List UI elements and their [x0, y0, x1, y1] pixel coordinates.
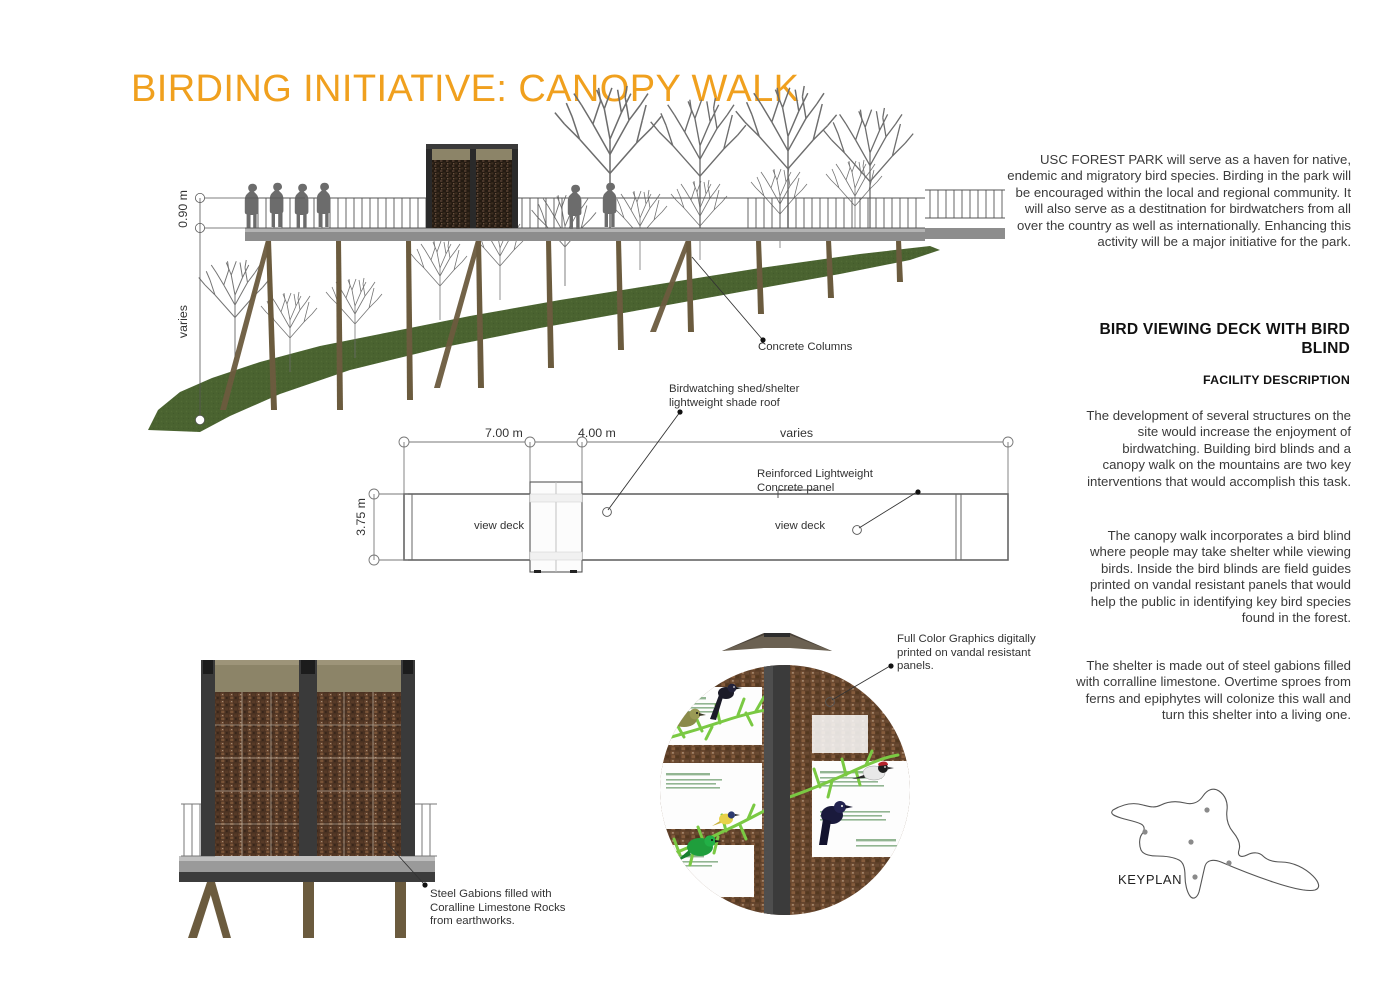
page-title: BIRDING INITIATIVE: CANOPY WALK: [131, 68, 799, 111]
facility-paragraph-1: The development of several structures on…: [1085, 408, 1351, 490]
facility-paragraph-2: The canopy walk incorporates a bird blin…: [1085, 528, 1351, 626]
intro-paragraph: USC FOREST PARK will serve as a haven fo…: [1006, 152, 1351, 250]
facility-paragraph-3: The shelter is made out of steel gabions…: [1065, 658, 1351, 724]
railing: [245, 190, 1005, 228]
facility-heading: BIRD VIEWING DECK WITH BIRD BLIND: [1050, 320, 1350, 358]
dim-label-depth: 3.75 m: [354, 498, 368, 536]
gabion-panel-left: [213, 692, 301, 856]
leader-line-concrete-columns: [690, 255, 780, 350]
gabion-support-columns: [188, 882, 406, 938]
gabion-elevation-drawing: [175, 630, 445, 940]
facility-subheading: FACILITY DESCRIPTION: [1050, 373, 1350, 387]
dim-label-varies: varies: [176, 305, 190, 338]
gabion-tower: [426, 144, 518, 228]
dim-label-height: 0.90 m: [176, 190, 190, 228]
dim-label-span-3: varies: [780, 426, 813, 440]
shelter-module: [530, 482, 582, 573]
plan-label-view-deck-left: view deck: [474, 520, 524, 534]
dim-label-span-1: 7.00 m: [485, 426, 523, 440]
gabion-panel-right: [315, 692, 403, 856]
callout-steel-gabions: Steel Gabions filled with Coralline Lime…: [430, 888, 565, 929]
plan-label-view-deck-right: view deck: [775, 520, 825, 534]
elevation-drawing: 0.90 m varies: [140, 110, 1010, 440]
keyplan-site-markers: [1142, 807, 1231, 879]
leader-line-panel: [845, 490, 925, 540]
leader-line-shed: [592, 410, 682, 520]
leader-line-graphics: [816, 664, 896, 710]
callout-full-color-graphics: Full Color Graphics digitally printed on…: [897, 633, 1036, 674]
interior-circular-render: [660, 615, 910, 935]
leader-line-gabions: [384, 840, 434, 892]
presentation-board: BIRDING INITIATIVE: CANOPY WALK: [0, 0, 1400, 989]
terrain-slope: [148, 246, 940, 432]
keyplan-label: KEYPLAN: [1118, 872, 1182, 887]
callout-birdwatching-shed: Birdwatching shed/shelter lightweight sh…: [669, 383, 799, 410]
